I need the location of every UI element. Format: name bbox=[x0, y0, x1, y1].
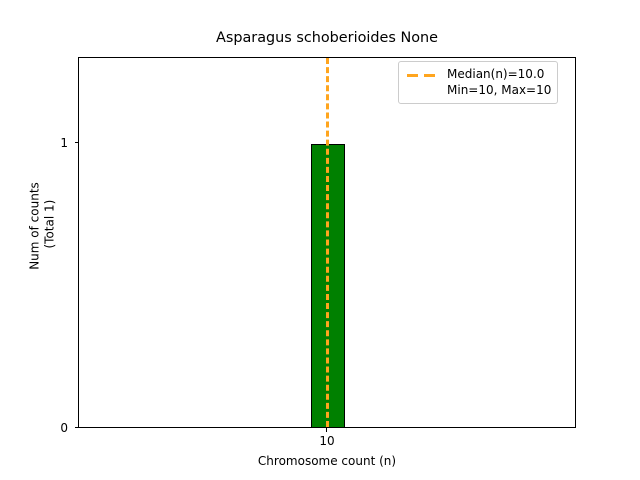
plot-area bbox=[78, 57, 576, 428]
legend-entry-median: Median(n)=10.0 Min=10, Max=10 bbox=[447, 67, 551, 98]
legend-dashed-line-icon bbox=[406, 67, 440, 84]
median-vline bbox=[326, 58, 329, 427]
legend: Median(n)=10.0 Min=10, Max=10 bbox=[398, 61, 558, 104]
ytick-label-1: 1 bbox=[60, 137, 68, 149]
ytick-mark-1 bbox=[75, 142, 79, 143]
xtick-mark-0 bbox=[326, 428, 327, 432]
chart-title: Asparagus schoberioides None bbox=[78, 30, 576, 47]
legend-label-line1: Median(n)=10.0 bbox=[447, 67, 551, 83]
ytick-mark-0 bbox=[75, 427, 79, 428]
chart-figure: Asparagus schoberioides None 0 1 10 Chro… bbox=[0, 0, 640, 480]
ytick-label-0: 0 bbox=[60, 422, 68, 434]
y-axis-label: Num of counts (Total 1) bbox=[28, 182, 58, 270]
y-axis-label-container: Num of counts (Total 1) bbox=[26, 41, 60, 412]
xtick-label-0: 10 bbox=[319, 434, 334, 448]
x-axis-label: Chromosome count (n) bbox=[78, 454, 576, 468]
legend-label-line2: Min=10, Max=10 bbox=[447, 83, 551, 99]
